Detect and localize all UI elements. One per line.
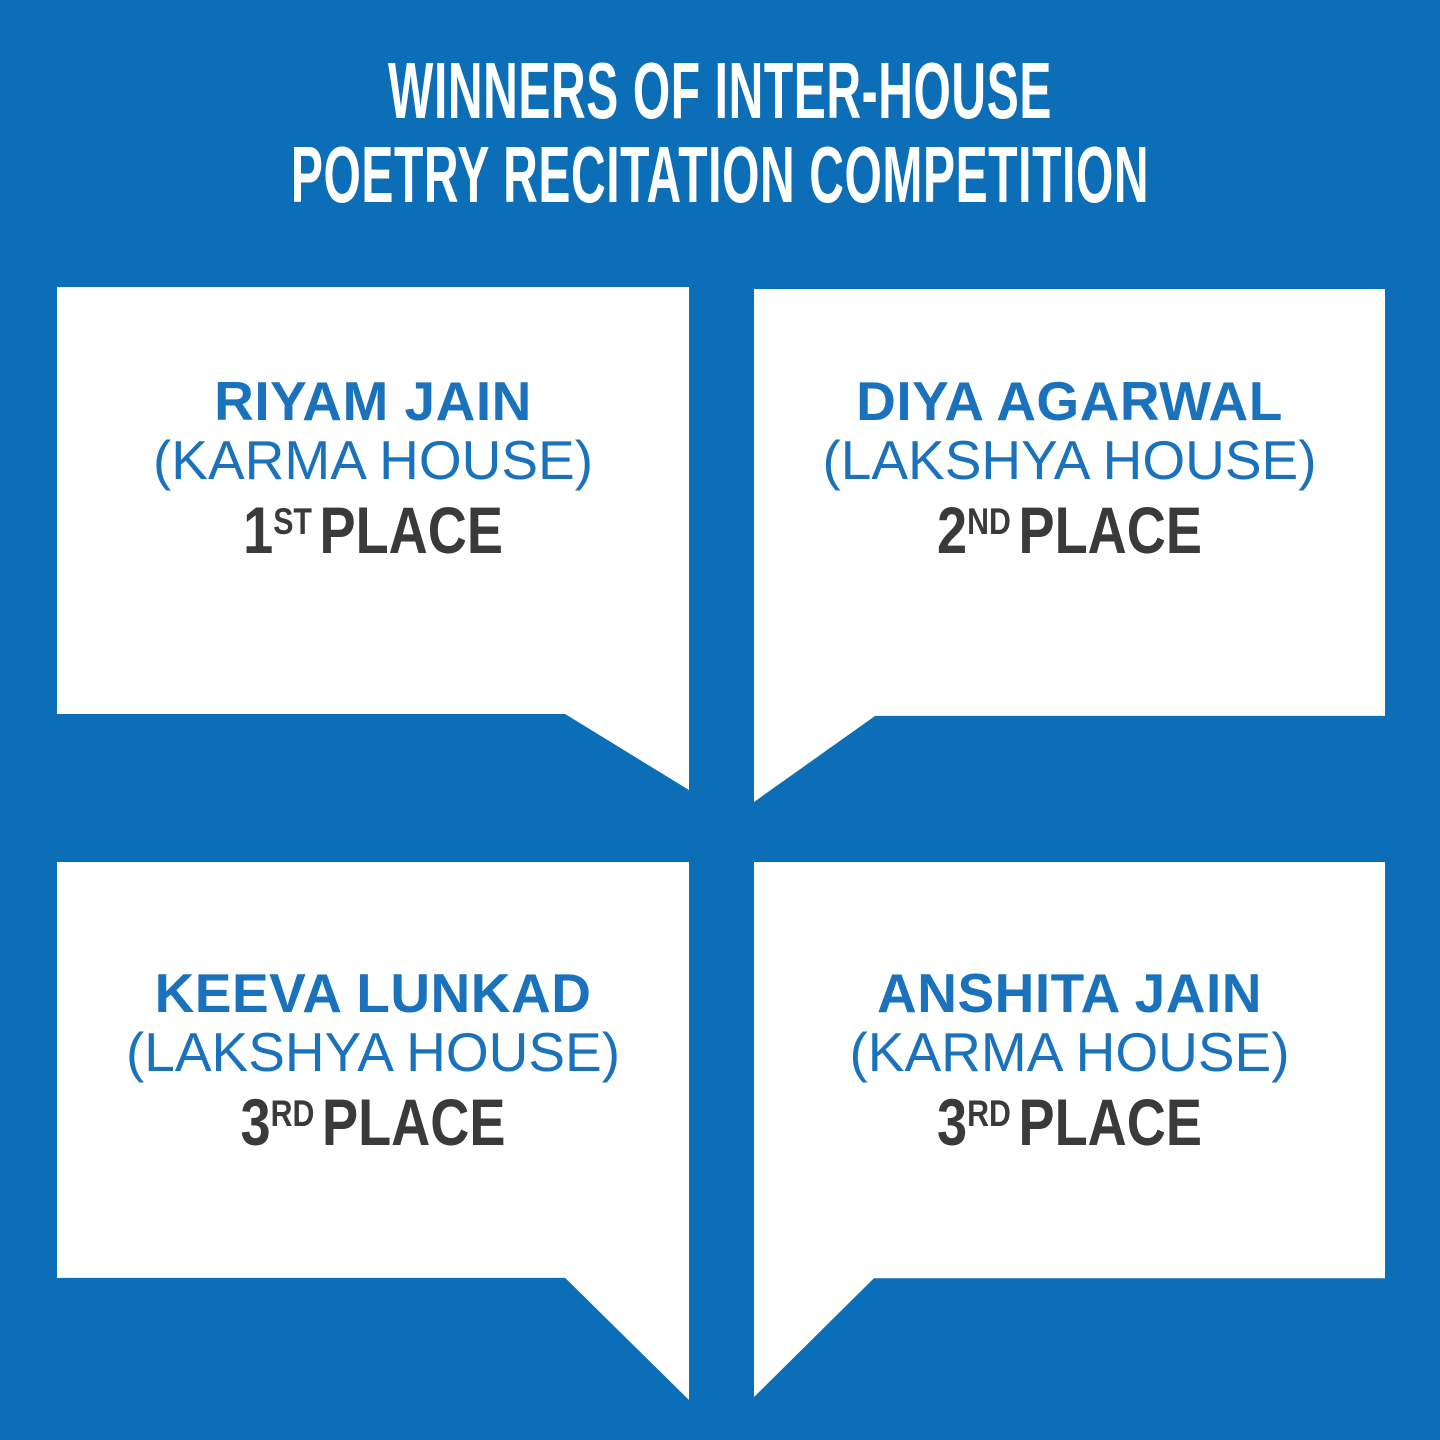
winner-card-2: DIYA AGARWAL (LAKSHYA HOUSE) 2NDPLACE [754, 289, 1385, 802]
place-word: PLACE [1019, 493, 1202, 567]
place-number: 2 [937, 493, 967, 567]
poster-canvas: WINNERS OF INTER-HOUSE POETRY RECITATION… [0, 0, 1440, 1440]
place-number: 3 [937, 1085, 967, 1159]
poster-title: WINNERS OF INTER-HOUSE POETRY RECITATION… [0, 52, 1440, 215]
winner-house: (KARMA HOUSE) [768, 1023, 1371, 1081]
title-line-1: WINNERS OF INTER-HOUSE [288, 52, 1152, 130]
place-ordinal-suffix: ST [273, 501, 312, 542]
winner-card-4-content: ANSHITA JAIN (KARMA HOUSE) 3RDPLACE [754, 965, 1385, 1155]
winner-house: (LAKSHYA HOUSE) [71, 1023, 675, 1081]
place-ordinal-suffix: RD [967, 1093, 1011, 1134]
place-ordinal-suffix: RD [271, 1093, 315, 1134]
place-ordinal-suffix: ND [967, 501, 1011, 542]
place-word: PLACE [1019, 1085, 1202, 1159]
winner-card-2-content: DIYA AGARWAL (LAKSHYA HOUSE) 2NDPLACE [754, 373, 1385, 563]
place-word: PLACE [322, 1085, 505, 1159]
place-number: 3 [241, 1085, 271, 1159]
winner-name: KEEVA LUNKAD [71, 965, 675, 1021]
winner-name: ANSHITA JAIN [768, 965, 1371, 1021]
place-number: 1 [243, 493, 273, 567]
winner-house: (KARMA HOUSE) [71, 431, 675, 489]
winner-card-1-content: RIYAM JAIN (KARMA HOUSE) 1STPLACE [57, 373, 689, 563]
winner-place: 1STPLACE [125, 497, 620, 563]
winner-name: RIYAM JAIN [71, 373, 675, 429]
winner-card-3: KEEVA LUNKAD (LAKSHYA HOUSE) 3RDPLACE [57, 862, 689, 1400]
title-line-2: POETRY RECITATION COMPETITION [288, 136, 1152, 214]
winner-place: 3RDPLACE [822, 1089, 1316, 1155]
winner-card-3-content: KEEVA LUNKAD (LAKSHYA HOUSE) 3RDPLACE [57, 965, 689, 1155]
winner-card-1: RIYAM JAIN (KARMA HOUSE) 1STPLACE [57, 287, 689, 790]
winner-name: DIYA AGARWAL [768, 373, 1371, 429]
winner-house: (LAKSHYA HOUSE) [768, 431, 1371, 489]
winner-place: 2NDPLACE [822, 497, 1316, 563]
winner-place: 3RDPLACE [125, 1089, 620, 1155]
place-word: PLACE [319, 493, 502, 567]
winner-card-4: ANSHITA JAIN (KARMA HOUSE) 3RDPLACE [754, 862, 1385, 1397]
